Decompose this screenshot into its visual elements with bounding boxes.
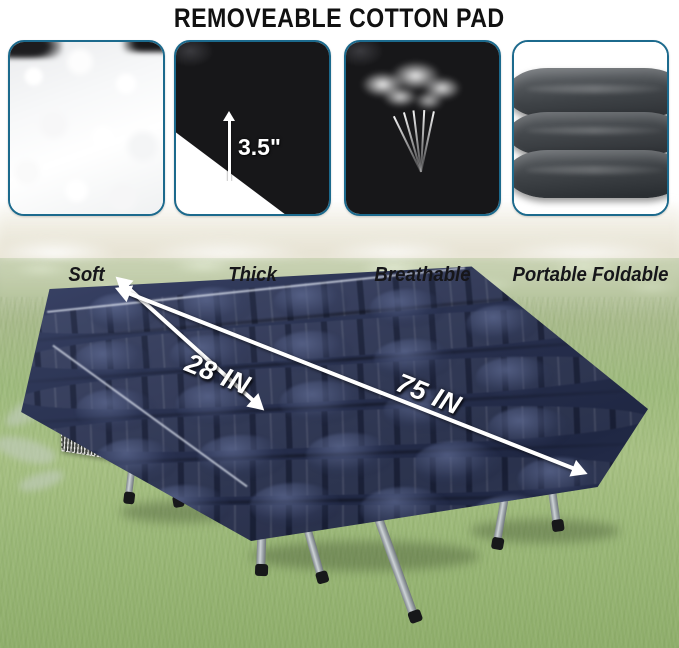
- feature-panel-soft: [8, 40, 165, 216]
- puff-cell: [466, 305, 538, 343]
- cotton-fill-texture: [10, 42, 163, 214]
- puff-cell: [250, 483, 340, 527]
- feature-panel-portable-foldable: [512, 40, 669, 216]
- puff-cell: [370, 289, 444, 327]
- feature-panel-thick: 3.5": [174, 40, 331, 216]
- puff-cell: [74, 341, 150, 381]
- product-photo: 28 IN 75 IN: [0, 251, 679, 648]
- puff-cell: [198, 435, 286, 479]
- puff-cell: [360, 487, 450, 531]
- puff-cell: [142, 485, 230, 529]
- puff-cell: [476, 357, 554, 397]
- page-title: REMOVEABLE COTTON PAD: [174, 5, 505, 32]
- puff-cell: [414, 441, 502, 485]
- puff-cell: [470, 495, 558, 539]
- feature-image-breathable: [346, 42, 499, 214]
- feature-panel-breathable: [344, 40, 501, 216]
- steam-puff-icon: [354, 56, 464, 118]
- puff-cell: [94, 439, 178, 483]
- quilted-mattress: [18, 265, 648, 565]
- folding-cot: 28 IN 75 IN: [0, 251, 679, 648]
- folded-pad-stack: [514, 42, 667, 214]
- title-bar: REMOVEABLE COTTON PAD: [0, 0, 679, 36]
- feature-caption-thick: Thick: [179, 264, 325, 288]
- mattress-tufting: [18, 265, 648, 565]
- puff-cell: [488, 407, 570, 449]
- feature-image-thick: 3.5": [176, 42, 329, 214]
- puff-cell: [306, 433, 394, 477]
- puff-cell: [280, 381, 364, 423]
- feature-strip: 3.5" Soft: [0, 36, 679, 258]
- product-infographic: REMOVEABLE COTTON PAD 3.5": [0, 0, 679, 648]
- feature-caption-portable-foldable: Portable Foldable: [508, 264, 673, 288]
- thickness-arrow-icon: [228, 120, 231, 182]
- puff-cell: [274, 283, 348, 321]
- feature-image-portable-foldable: [514, 42, 667, 214]
- fold-layer: [514, 150, 667, 198]
- feature-caption-breathable: Breathable: [349, 264, 495, 288]
- thickness-label: 3.5": [238, 134, 281, 161]
- fold-layer: [514, 68, 667, 118]
- feature-caption-soft: Soft: [13, 264, 159, 288]
- feature-image-soft: [10, 42, 163, 214]
